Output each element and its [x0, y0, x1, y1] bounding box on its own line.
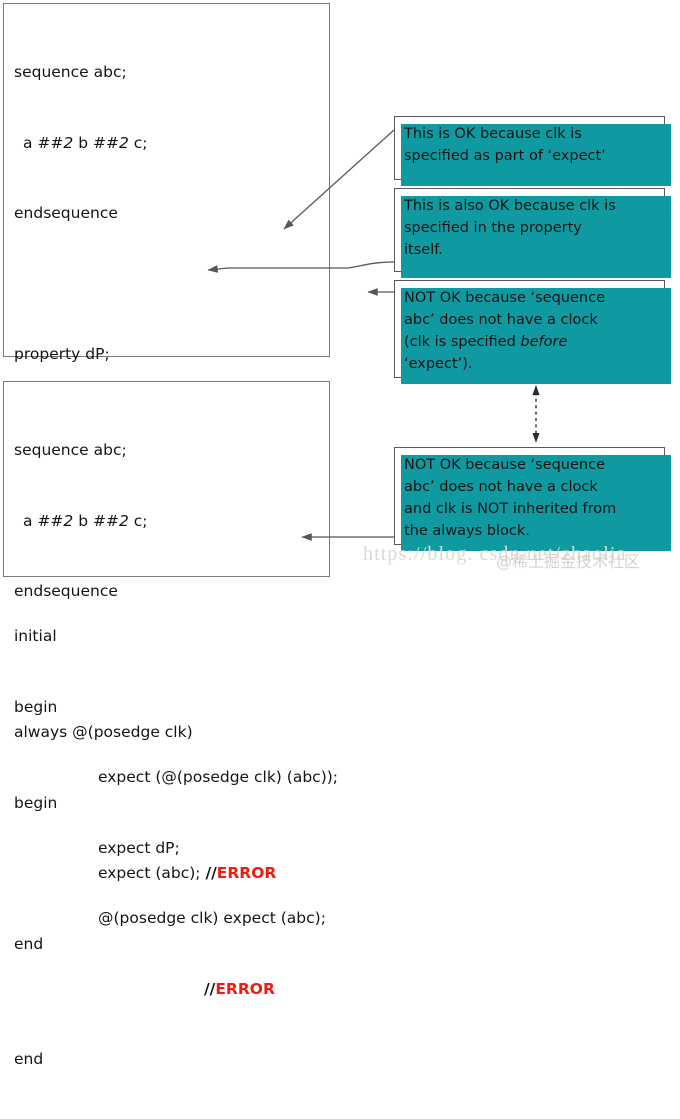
- code-line: end: [14, 1048, 329, 1072]
- callout-box-ok-expect: This is OK because clk is specified as p…: [394, 116, 665, 180]
- callout-line: NOT OK because ‘sequence: [404, 287, 656, 309]
- callout-line: ‘expect’).: [404, 353, 656, 375]
- code-line: initial: [14, 625, 329, 649]
- callout-emphasis-before: before: [520, 334, 567, 350]
- code-line: end: [14, 933, 329, 957]
- callout-line: This is OK because clk is: [404, 123, 656, 145]
- code-line-with-error: expect (abc); //ERROR: [14, 862, 329, 886]
- callout-line: the always block.: [404, 520, 656, 542]
- code-line: always @(posedge clk): [14, 721, 329, 745]
- callout-line: abc’ does not have a clock: [404, 309, 656, 331]
- code-line: begin: [14, 792, 329, 816]
- callout-line: specified as part of ‘expect’: [404, 145, 656, 167]
- callout-line-text: (clk is specified: [404, 334, 520, 350]
- code-line: expect dP;: [14, 837, 329, 861]
- callout-box-not-ok-sequence-clock: NOT OK because ‘sequence abc’ does not h…: [394, 280, 665, 378]
- callout-line: specified in the property: [404, 217, 656, 239]
- leader-callout-1: [284, 130, 394, 229]
- diagram-canvas: sequence abc; a ##2 b ##2 c; endsequence…: [0, 0, 680, 581]
- code-line-blank: [14, 651, 329, 675]
- code-line: endsequence: [14, 580, 329, 604]
- code-error-comment: //ERROR: [14, 978, 329, 1002]
- code-line: begin: [14, 696, 329, 720]
- callout-line: abc’ does not have a clock: [404, 476, 656, 498]
- callout-box-not-ok-always-block: NOT OK because ‘sequence abc’ does not h…: [394, 447, 665, 545]
- leader-callout-2: [208, 262, 394, 270]
- code-line: @(posedge clk) expect (abc);: [14, 907, 329, 931]
- callout-line: This is also OK because clk is: [404, 195, 656, 217]
- error-label: ERROR: [215, 980, 275, 998]
- callout-line: and clk is NOT inherited from: [404, 498, 656, 520]
- callout-line: NOT OK because ‘sequence: [404, 454, 656, 476]
- callout-box-ok-property: This is also OK because clk is specified…: [394, 188, 665, 272]
- callout-line: itself.: [404, 239, 656, 261]
- code-line: expect (@(posedge clk) (abc));: [14, 766, 329, 790]
- error-label: ERROR: [217, 864, 277, 882]
- callout-line: (clk is specified before: [404, 331, 656, 353]
